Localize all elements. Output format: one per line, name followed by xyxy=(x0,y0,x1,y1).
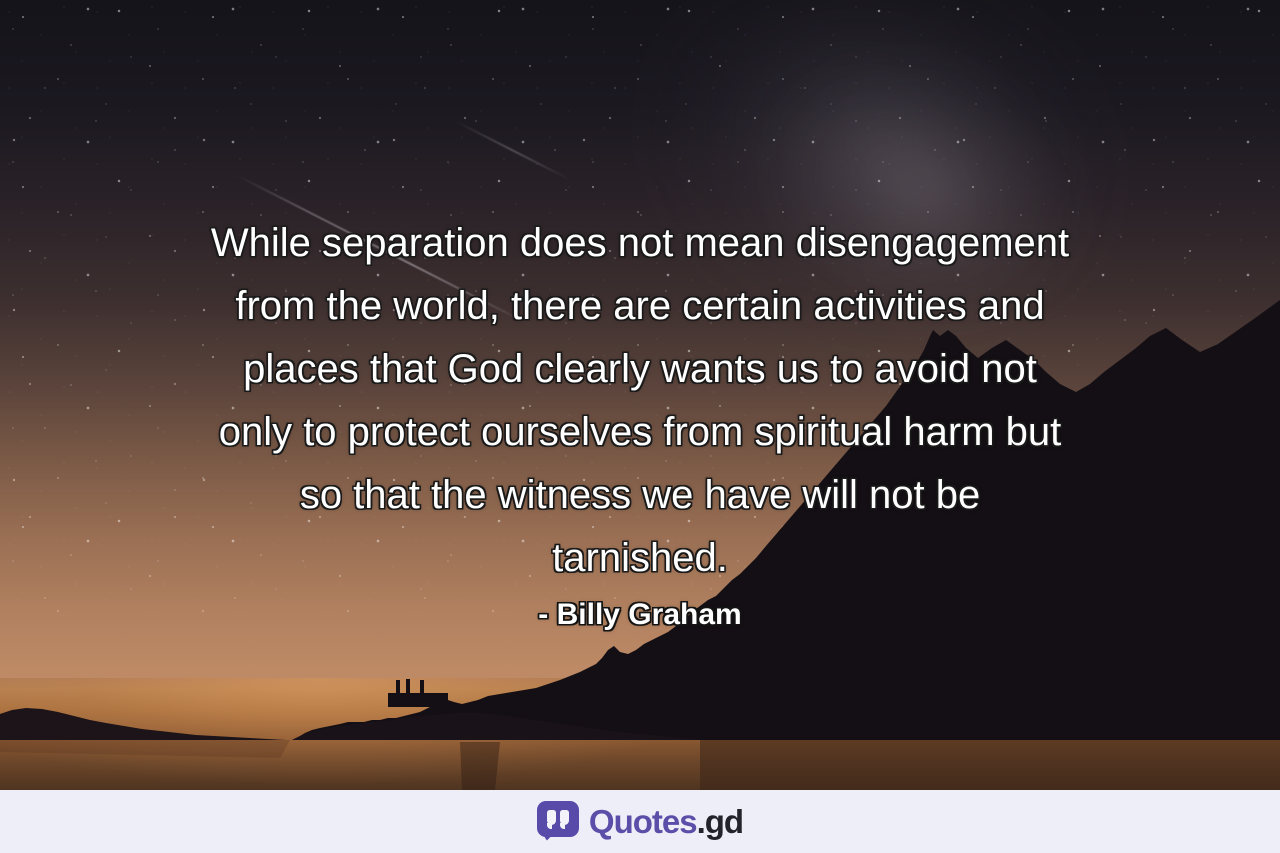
bubble-shape xyxy=(537,801,579,837)
quote-line: so that the witness we have will not be xyxy=(80,464,1200,527)
quote-author: - Billy Graham xyxy=(538,596,741,634)
quote-line: from the world, there are certain activi… xyxy=(80,275,1200,338)
quote-line: places that God clearly wants us to avoi… xyxy=(80,338,1200,401)
quote-text-layer: While separation does not mean disengage… xyxy=(0,0,1280,790)
quote-image-card: While separation does not mean disengage… xyxy=(0,0,1280,853)
bubble-tail-shape xyxy=(544,831,557,844)
quote-text: While separation does not mean disengage… xyxy=(80,212,1200,590)
quote-bubble-icon xyxy=(537,801,579,843)
quote-line: While separation does not mean disengage… xyxy=(80,212,1200,275)
site-footer: Quotes.gd xyxy=(0,790,1280,853)
brand-wordmark: Quotes.gd xyxy=(589,805,743,838)
quote-line: tarnished. xyxy=(80,527,1200,590)
brand-name-suffix: .gd xyxy=(697,803,743,840)
brand-logo-link[interactable]: Quotes.gd xyxy=(537,801,743,843)
quote-mark-right xyxy=(560,810,569,825)
quote-mark-left xyxy=(547,810,556,825)
brand-name-primary: Quotes xyxy=(589,803,697,840)
quote-line: only to protect ourselves from spiritual… xyxy=(80,401,1200,464)
